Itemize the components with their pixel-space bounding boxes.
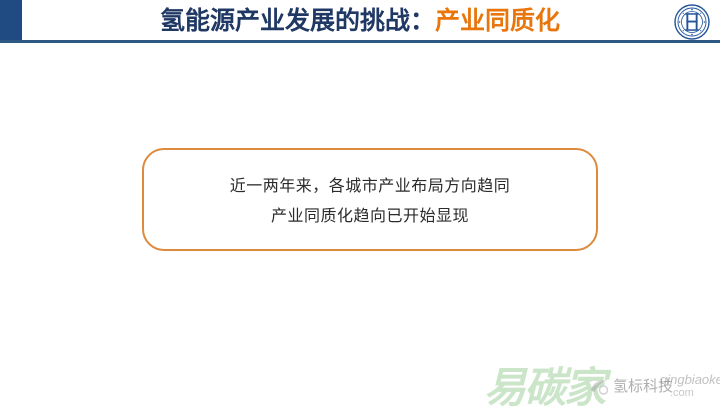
content-line-2: 产业同质化趋向已开始显现 <box>144 201 596 231</box>
watermark-yitanjia: 易碳家 <box>484 362 604 414</box>
page-title: 氢能源产业发展的挑战：产业同质化 <box>60 2 660 40</box>
header-accent-block <box>0 0 22 41</box>
content-text-group: 近一两年来，各城市产业布局方向趋同 产业同质化趋向已开始显现 <box>144 171 596 231</box>
page-title-main: 氢能源产业发展的挑战： <box>160 6 435 35</box>
watermark-qingbiao: 氢标科技 qingbiaokeji .com <box>588 374 716 408</box>
slide-header: 氢能源产业发展的挑战：产业同质化 <box>0 0 720 48</box>
content-line-1: 近一两年来，各城市产业布局方向趋同 <box>144 171 596 201</box>
university-seal-logo <box>674 4 710 40</box>
content-callout-box: 近一两年来，各城市产业布局方向趋同 产业同质化趋向已开始显现 <box>142 148 598 251</box>
page-title-accent: 产业同质化 <box>435 6 560 35</box>
watermark-logo-icon <box>588 376 610 398</box>
watermark-qingbiao-en: qingbiaokeji <box>660 372 720 387</box>
slide-canvas: 氢能源产业发展的挑战：产业同质化 近一两年来，各城市 <box>0 0 720 420</box>
watermark-qingbiao-domain: .com <box>670 387 694 400</box>
header-divider-rule <box>0 40 720 43</box>
